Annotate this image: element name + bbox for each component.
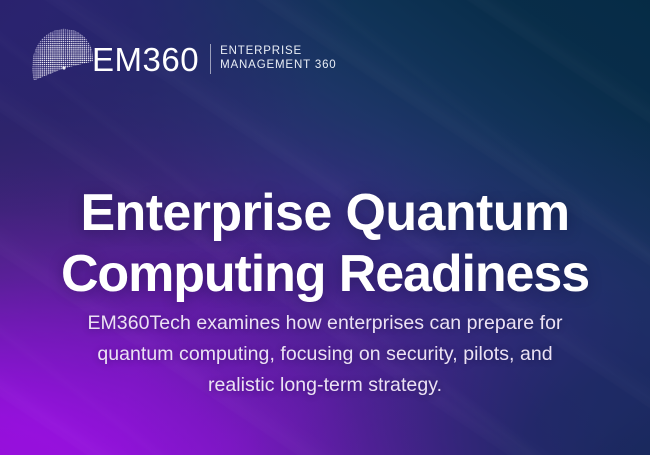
page-description-line1: EM360Tech examines how enterprises can p… xyxy=(18,308,632,339)
promo-card: EM360 ENTERPRISE MANAGEMENT 360 Enterpri… xyxy=(0,0,650,455)
page-description-line3: realistic long-term strategy. xyxy=(18,370,632,401)
page-title-line2: Computing Readiness xyxy=(8,244,642,305)
logo-tagline: ENTERPRISE MANAGEMENT 360 xyxy=(220,45,337,72)
logo-tagline-line2: MANAGEMENT 360 xyxy=(220,59,337,73)
em360-fan-logo-icon xyxy=(14,11,98,93)
page-title-line1: Enterprise Quantum xyxy=(8,183,642,244)
em360-wordmark: EM360 xyxy=(92,43,199,76)
logo-tagline-line1: ENTERPRISE xyxy=(220,45,337,59)
em360-logo[interactable]: EM360 ENTERPRISE MANAGEMENT 360 xyxy=(14,11,337,93)
em360-wordmark-group: EM360 ENTERPRISE MANAGEMENT 360 xyxy=(92,43,337,76)
page-description: EM360Tech examines how enterprises can p… xyxy=(0,308,650,401)
page-title: Enterprise Quantum Computing Readiness xyxy=(0,183,650,305)
logo-divider xyxy=(210,44,211,74)
page-description-line2: quantum computing, focusing on security,… xyxy=(18,339,632,370)
